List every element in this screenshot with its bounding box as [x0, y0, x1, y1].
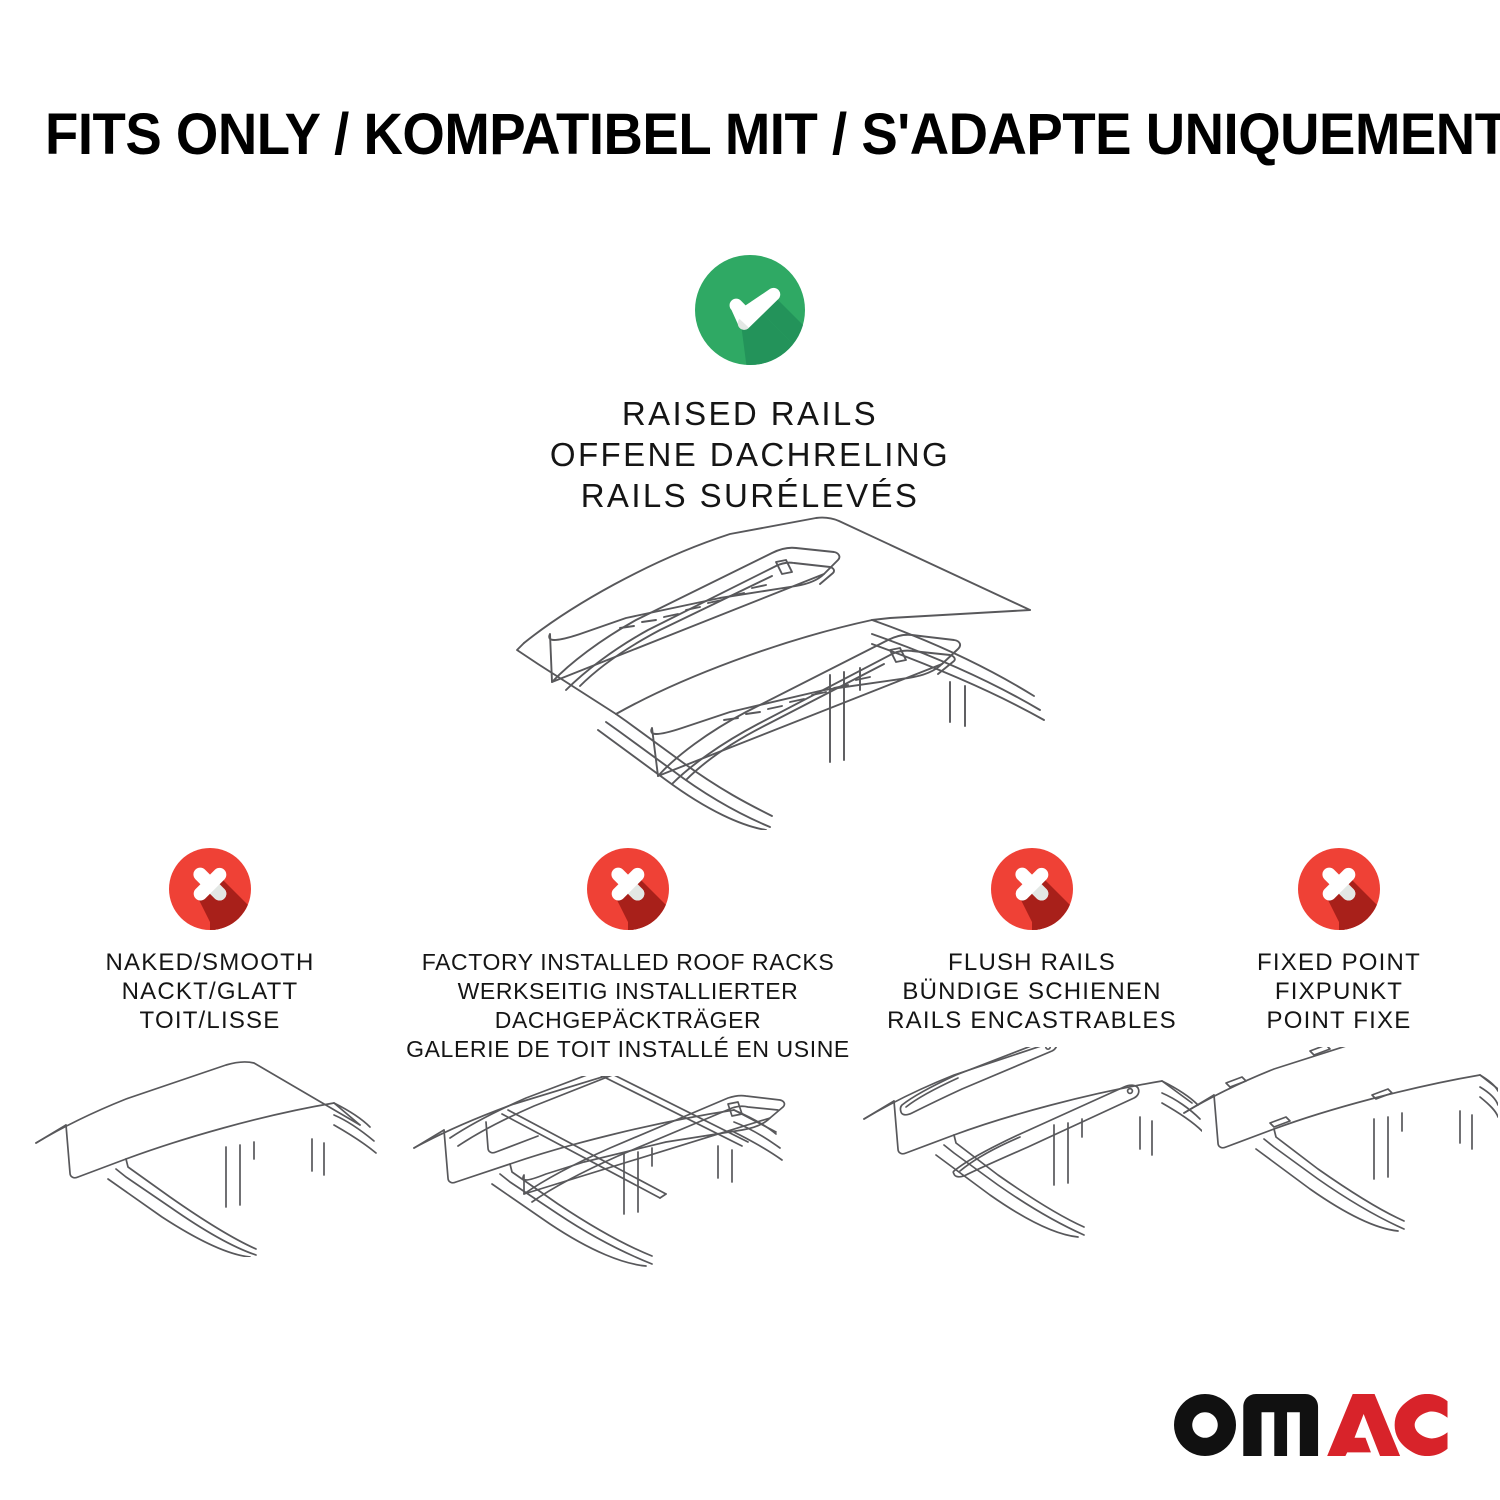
- car-roof-naked-smooth-illustration: [30, 1047, 390, 1257]
- caption-line-de-2: DACHGEPÄCKTRÄGER: [398, 1006, 858, 1035]
- car-roof-raised-rails-illustration: [420, 500, 1100, 830]
- caption-line-en: NAKED/SMOOTH: [30, 948, 390, 977]
- incompatible-section: NAKED/SMOOTH NACKT/GLATT TOIT/LISSE: [0, 848, 1500, 1288]
- caption-line-en: FLUSH RAILS: [862, 948, 1202, 977]
- red-x-circle-icon: [1298, 848, 1380, 930]
- caption-line-fr: RAILS ENCASTRABLES: [862, 1006, 1202, 1035]
- incompatible-item-factory-roof-racks: FACTORY INSTALLED ROOF RACKS WERKSEITIG …: [398, 848, 858, 1286]
- caption-line-de: NACKT/GLATT: [30, 977, 390, 1006]
- car-roof-factory-rack-illustration: [398, 1076, 858, 1286]
- compatible-line-en: RAISED RAILS: [0, 393, 1500, 434]
- red-x-circle-icon: [169, 848, 251, 930]
- caption-line-de: BÜNDIGE SCHIENEN: [862, 977, 1202, 1006]
- caption-line-de-1: WERKSEITIG INSTALLIERTER: [398, 977, 858, 1006]
- green-check-circle-icon: [695, 255, 805, 365]
- caption-line-en: FIXED POINT: [1180, 948, 1498, 977]
- incompatible-item-naked-smooth: NAKED/SMOOTH NACKT/GLATT TOIT/LISSE: [30, 848, 390, 1257]
- incompatible-caption-fixed-point: FIXED POINT FIXPUNKT POINT FIXE: [1180, 948, 1498, 1035]
- page-title: FITS ONLY / KOMPATIBEL MIT / S'ADAPTE UN…: [45, 104, 1455, 166]
- incompatible-item-flush-rails: FLUSH RAILS BÜNDIGE SCHIENEN RAILS ENCAS…: [862, 848, 1202, 1257]
- caption-line-en: FACTORY INSTALLED ROOF RACKS: [398, 948, 858, 977]
- incompatible-item-fixed-point: FIXED POINT FIXPUNKT POINT FIXE: [1180, 848, 1498, 1257]
- incompatible-caption-naked-smooth: NAKED/SMOOTH NACKT/GLATT TOIT/LISSE: [30, 948, 390, 1035]
- caption-line-de: FIXPUNKT: [1180, 977, 1498, 1006]
- caption-line-fr: TOIT/LISSE: [30, 1006, 390, 1035]
- red-x-circle-icon: [991, 848, 1073, 930]
- red-x-circle-icon: [587, 848, 669, 930]
- car-roof-fixed-point-illustration: [1180, 1047, 1498, 1257]
- compatible-line-de: OFFENE DACHRELING: [0, 434, 1500, 475]
- incompatible-caption-factory-roof-racks: FACTORY INSTALLED ROOF RACKS WERKSEITIG …: [398, 948, 858, 1064]
- omac-logo: [1174, 1394, 1448, 1456]
- compatible-caption: RAISED RAILS OFFENE DACHRELING RAILS SUR…: [0, 393, 1500, 516]
- compatible-section: RAISED RAILS OFFENE DACHRELING RAILS SUR…: [0, 255, 1500, 516]
- caption-line-fr: POINT FIXE: [1180, 1006, 1498, 1035]
- incompatible-caption-flush-rails: FLUSH RAILS BÜNDIGE SCHIENEN RAILS ENCAS…: [862, 948, 1202, 1035]
- caption-line-fr: GALERIE DE TOIT INSTALLÉ EN USINE: [398, 1035, 858, 1064]
- car-roof-flush-rails-illustration: [862, 1047, 1202, 1257]
